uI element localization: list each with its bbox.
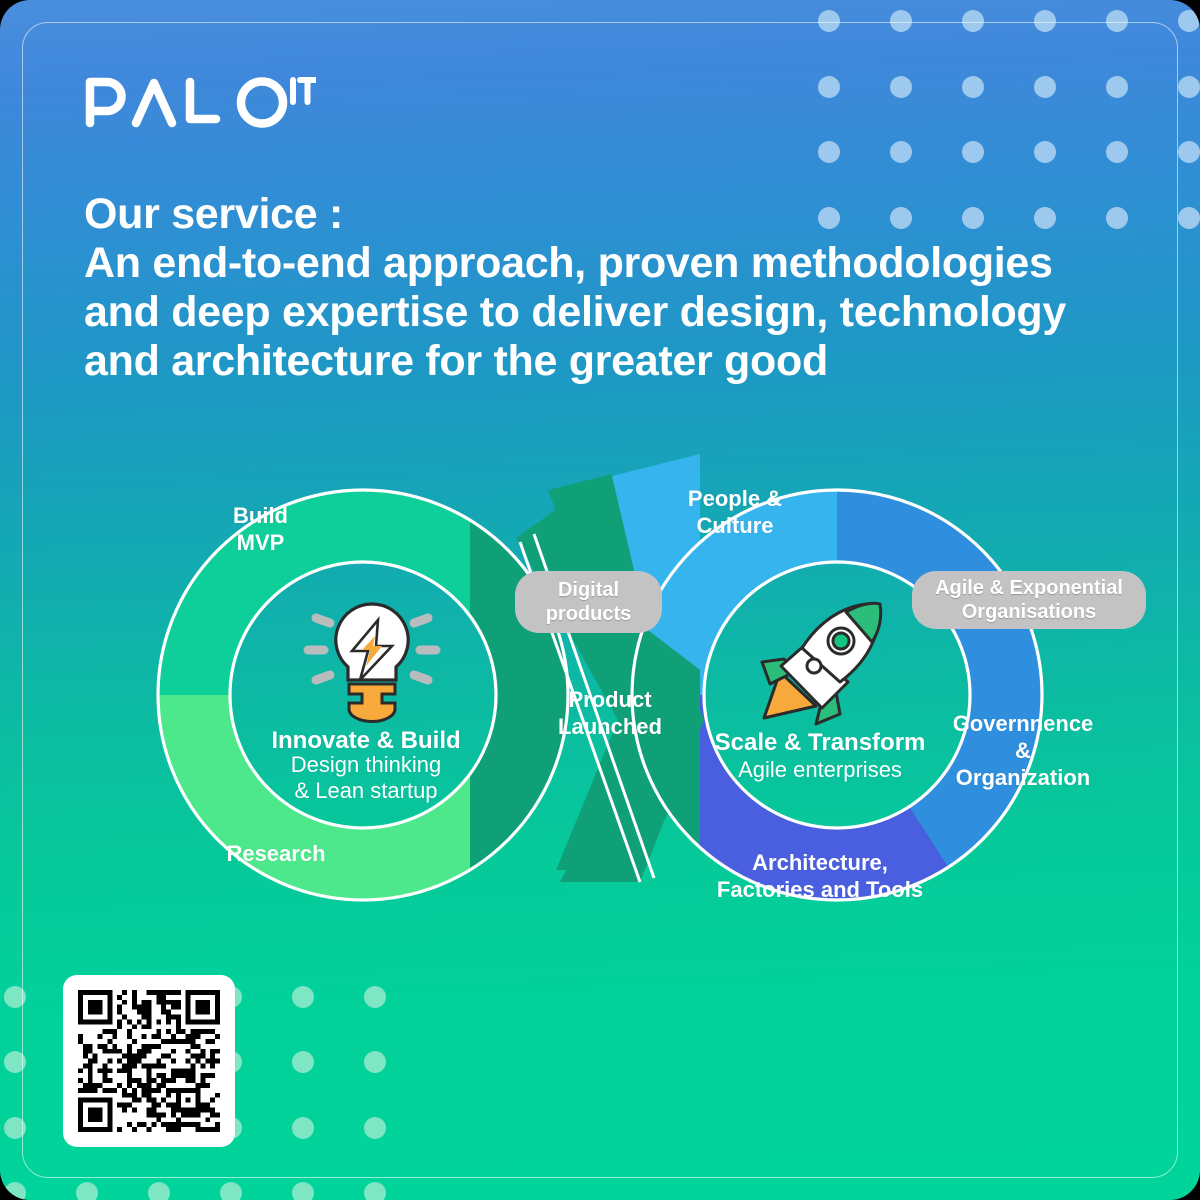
infinity-loop-diagram (0, 430, 1200, 960)
decorative-dot (148, 1182, 170, 1200)
decorative-dot (1178, 76, 1200, 98)
decorative-dot (818, 141, 840, 163)
decorative-dot (292, 1182, 314, 1200)
badge-agile-exponential-organisations[interactable]: Agile & Exponential Organisations (912, 571, 1146, 629)
decorative-dot (1034, 10, 1056, 32)
decorative-dot (76, 1182, 98, 1200)
badge-digital-products[interactable]: Digital products (515, 571, 662, 633)
decorative-dot (1106, 141, 1128, 163)
decorative-dot (890, 10, 912, 32)
decorative-dot (292, 1051, 314, 1073)
decorative-dot (1034, 141, 1056, 163)
decorative-dot (364, 1117, 386, 1139)
decorative-dot (890, 141, 912, 163)
qr-code-icon[interactable] (78, 990, 220, 1132)
decorative-dot (1178, 141, 1200, 163)
decorative-dot (364, 1051, 386, 1073)
digital-products-line2: products (546, 603, 632, 625)
decorative-dot (4, 1182, 26, 1200)
headline-line-1: Our service : (84, 190, 1144, 239)
poster-card: Our service : An end-to-end approach, pr… (0, 0, 1200, 1200)
decorative-dot (1034, 76, 1056, 98)
headline-line-4: and architecture for the greater good (84, 337, 1144, 386)
page-title: Our service : An end-to-end approach, pr… (84, 190, 1144, 386)
decorative-dot (4, 1117, 26, 1139)
palo-it-logo (84, 72, 316, 134)
agile-line2: Organisations (962, 601, 1096, 623)
decorative-dot (962, 76, 984, 98)
decorative-dot (220, 1182, 242, 1200)
decorative-dot (292, 986, 314, 1008)
decorative-dot (818, 76, 840, 98)
decorative-dot (818, 10, 840, 32)
headline-line-2: An end-to-end approach, proven methodolo… (84, 239, 1144, 288)
decorative-dot (1178, 207, 1200, 229)
qr-code-container[interactable] (63, 975, 235, 1147)
agile-line1: Agile & Exponential (935, 577, 1123, 599)
decorative-dot (1178, 10, 1200, 32)
decorative-dot (4, 986, 26, 1008)
decorative-dot (890, 76, 912, 98)
crossover-band (470, 450, 704, 940)
headline-line-3: and deep expertise to deliver design, te… (84, 288, 1144, 337)
decorative-dot (364, 986, 386, 1008)
decorative-dot (364, 1182, 386, 1200)
decorative-dot (1106, 10, 1128, 32)
decorative-dot (292, 1117, 314, 1139)
digital-products-line1: Digital (558, 579, 619, 601)
rocket-icon (754, 596, 898, 728)
decorative-dot (1106, 76, 1128, 98)
lightbulb-icon (296, 596, 448, 724)
decorative-dot (4, 1051, 26, 1073)
decorative-dot (962, 10, 984, 32)
decorative-dot (962, 141, 984, 163)
